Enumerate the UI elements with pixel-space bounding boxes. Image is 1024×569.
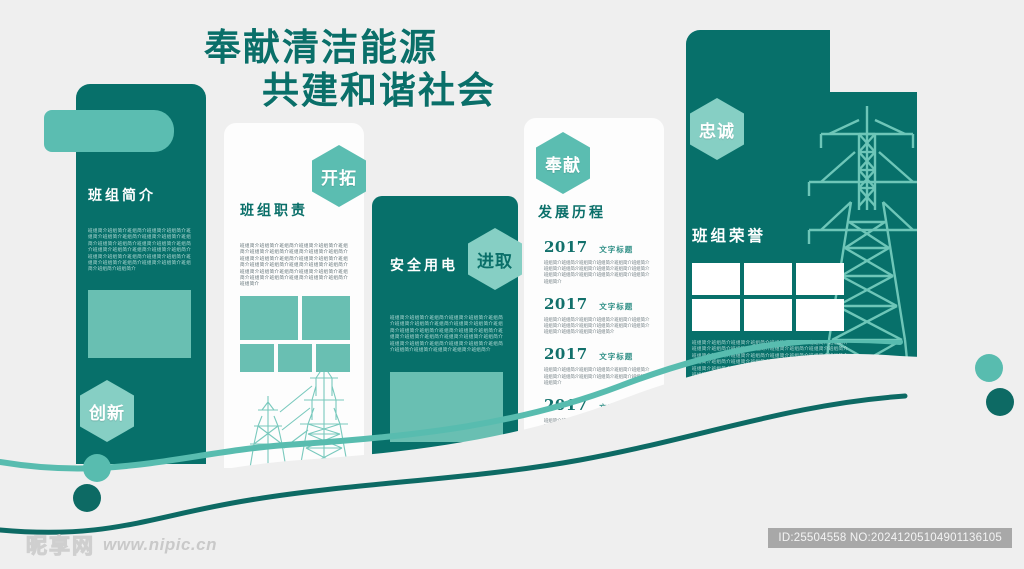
- honor-photo-box[interactable]: [744, 299, 792, 331]
- badge-hex-enterprising-label: 进取: [477, 247, 513, 272]
- status-badge: ID:25504558 NO:20241205104901136105: [768, 528, 1012, 548]
- timeline-text: 班组简介班组简介班组简介班组简介班组简介班组简介班组简介班组简介班组简介班组简介…: [544, 317, 652, 336]
- timeline-item: 2017 文字标题 班组简介班组简介班组简介班组简介班组简介班组简介班组简介班组…: [544, 295, 652, 336]
- panel-intro-body: 班组简介班组简介班组简介班组简介班组简介班组简介班组简介班组简介班组简介班组简介…: [88, 228, 191, 273]
- timeline-subtitle: 文字标题: [599, 302, 633, 311]
- poster-canvas: 奉献清洁能源 共建和谐社会: [0, 0, 1024, 569]
- panel-duty-body: 班组简介班组简介班组简介班组简介班组简介班组简介班组简介班组简介班组简介班组简介…: [240, 243, 348, 288]
- honor-photo-box[interactable]: [692, 263, 740, 295]
- timeline-subtitle: 文字标题: [599, 245, 633, 254]
- panel-intro-heading: 班组简介: [88, 185, 156, 205]
- duty-photo-box[interactable]: [302, 296, 350, 340]
- honor-photo-box[interactable]: [692, 299, 740, 331]
- badge-hex-honor-label: 忠诚: [699, 117, 735, 142]
- panel-safety-heading: 安全用电: [390, 255, 458, 275]
- wave-dot-dark: [73, 484, 101, 512]
- title-line-2: 共建和谐社会: [262, 68, 626, 112]
- timeline-year: 2017: [544, 238, 588, 256]
- page-title: 奉献清洁能源 共建和谐社会: [196, 26, 626, 126]
- panel-intro-tab: [44, 110, 174, 152]
- wave-dot-dark: [986, 388, 1014, 416]
- wave-dot-light: [83, 454, 111, 482]
- panel-history-heading: 发展历程: [538, 202, 606, 222]
- watermark: 昵享网 www.nipic.cn: [26, 530, 217, 560]
- watermark-url: www.nipic.cn: [103, 535, 217, 555]
- wave-dot-light: [975, 354, 1003, 382]
- watermark-logo-text: 昵享网: [26, 530, 95, 560]
- panel-duty-heading: 班组职责: [240, 200, 308, 220]
- timeline-text: 班组简介班组简介班组简介班组简介班组简介班组简介班组简介班组简介班组简介班组简介…: [544, 260, 652, 285]
- honor-photo-box[interactable]: [744, 263, 792, 295]
- panel-honor-heading: 班组荣誉: [692, 224, 766, 246]
- timeline-item: 2017 文字标题 班组简介班组简介班组简介班组简介班组简介班组简介班组简介班组…: [544, 238, 652, 285]
- honor-photo-grid: [692, 263, 844, 331]
- badge-hex-dedication-label: 奉献: [545, 151, 581, 176]
- title-line-1: 奉献清洁能源: [204, 26, 626, 68]
- honor-photo-box[interactable]: [796, 299, 844, 331]
- duty-photo-box[interactable]: [240, 296, 298, 340]
- honor-photo-box[interactable]: [796, 263, 844, 295]
- timeline-year: 2017: [544, 295, 588, 313]
- badge-hex-pioneer-label: 开拓: [321, 164, 357, 189]
